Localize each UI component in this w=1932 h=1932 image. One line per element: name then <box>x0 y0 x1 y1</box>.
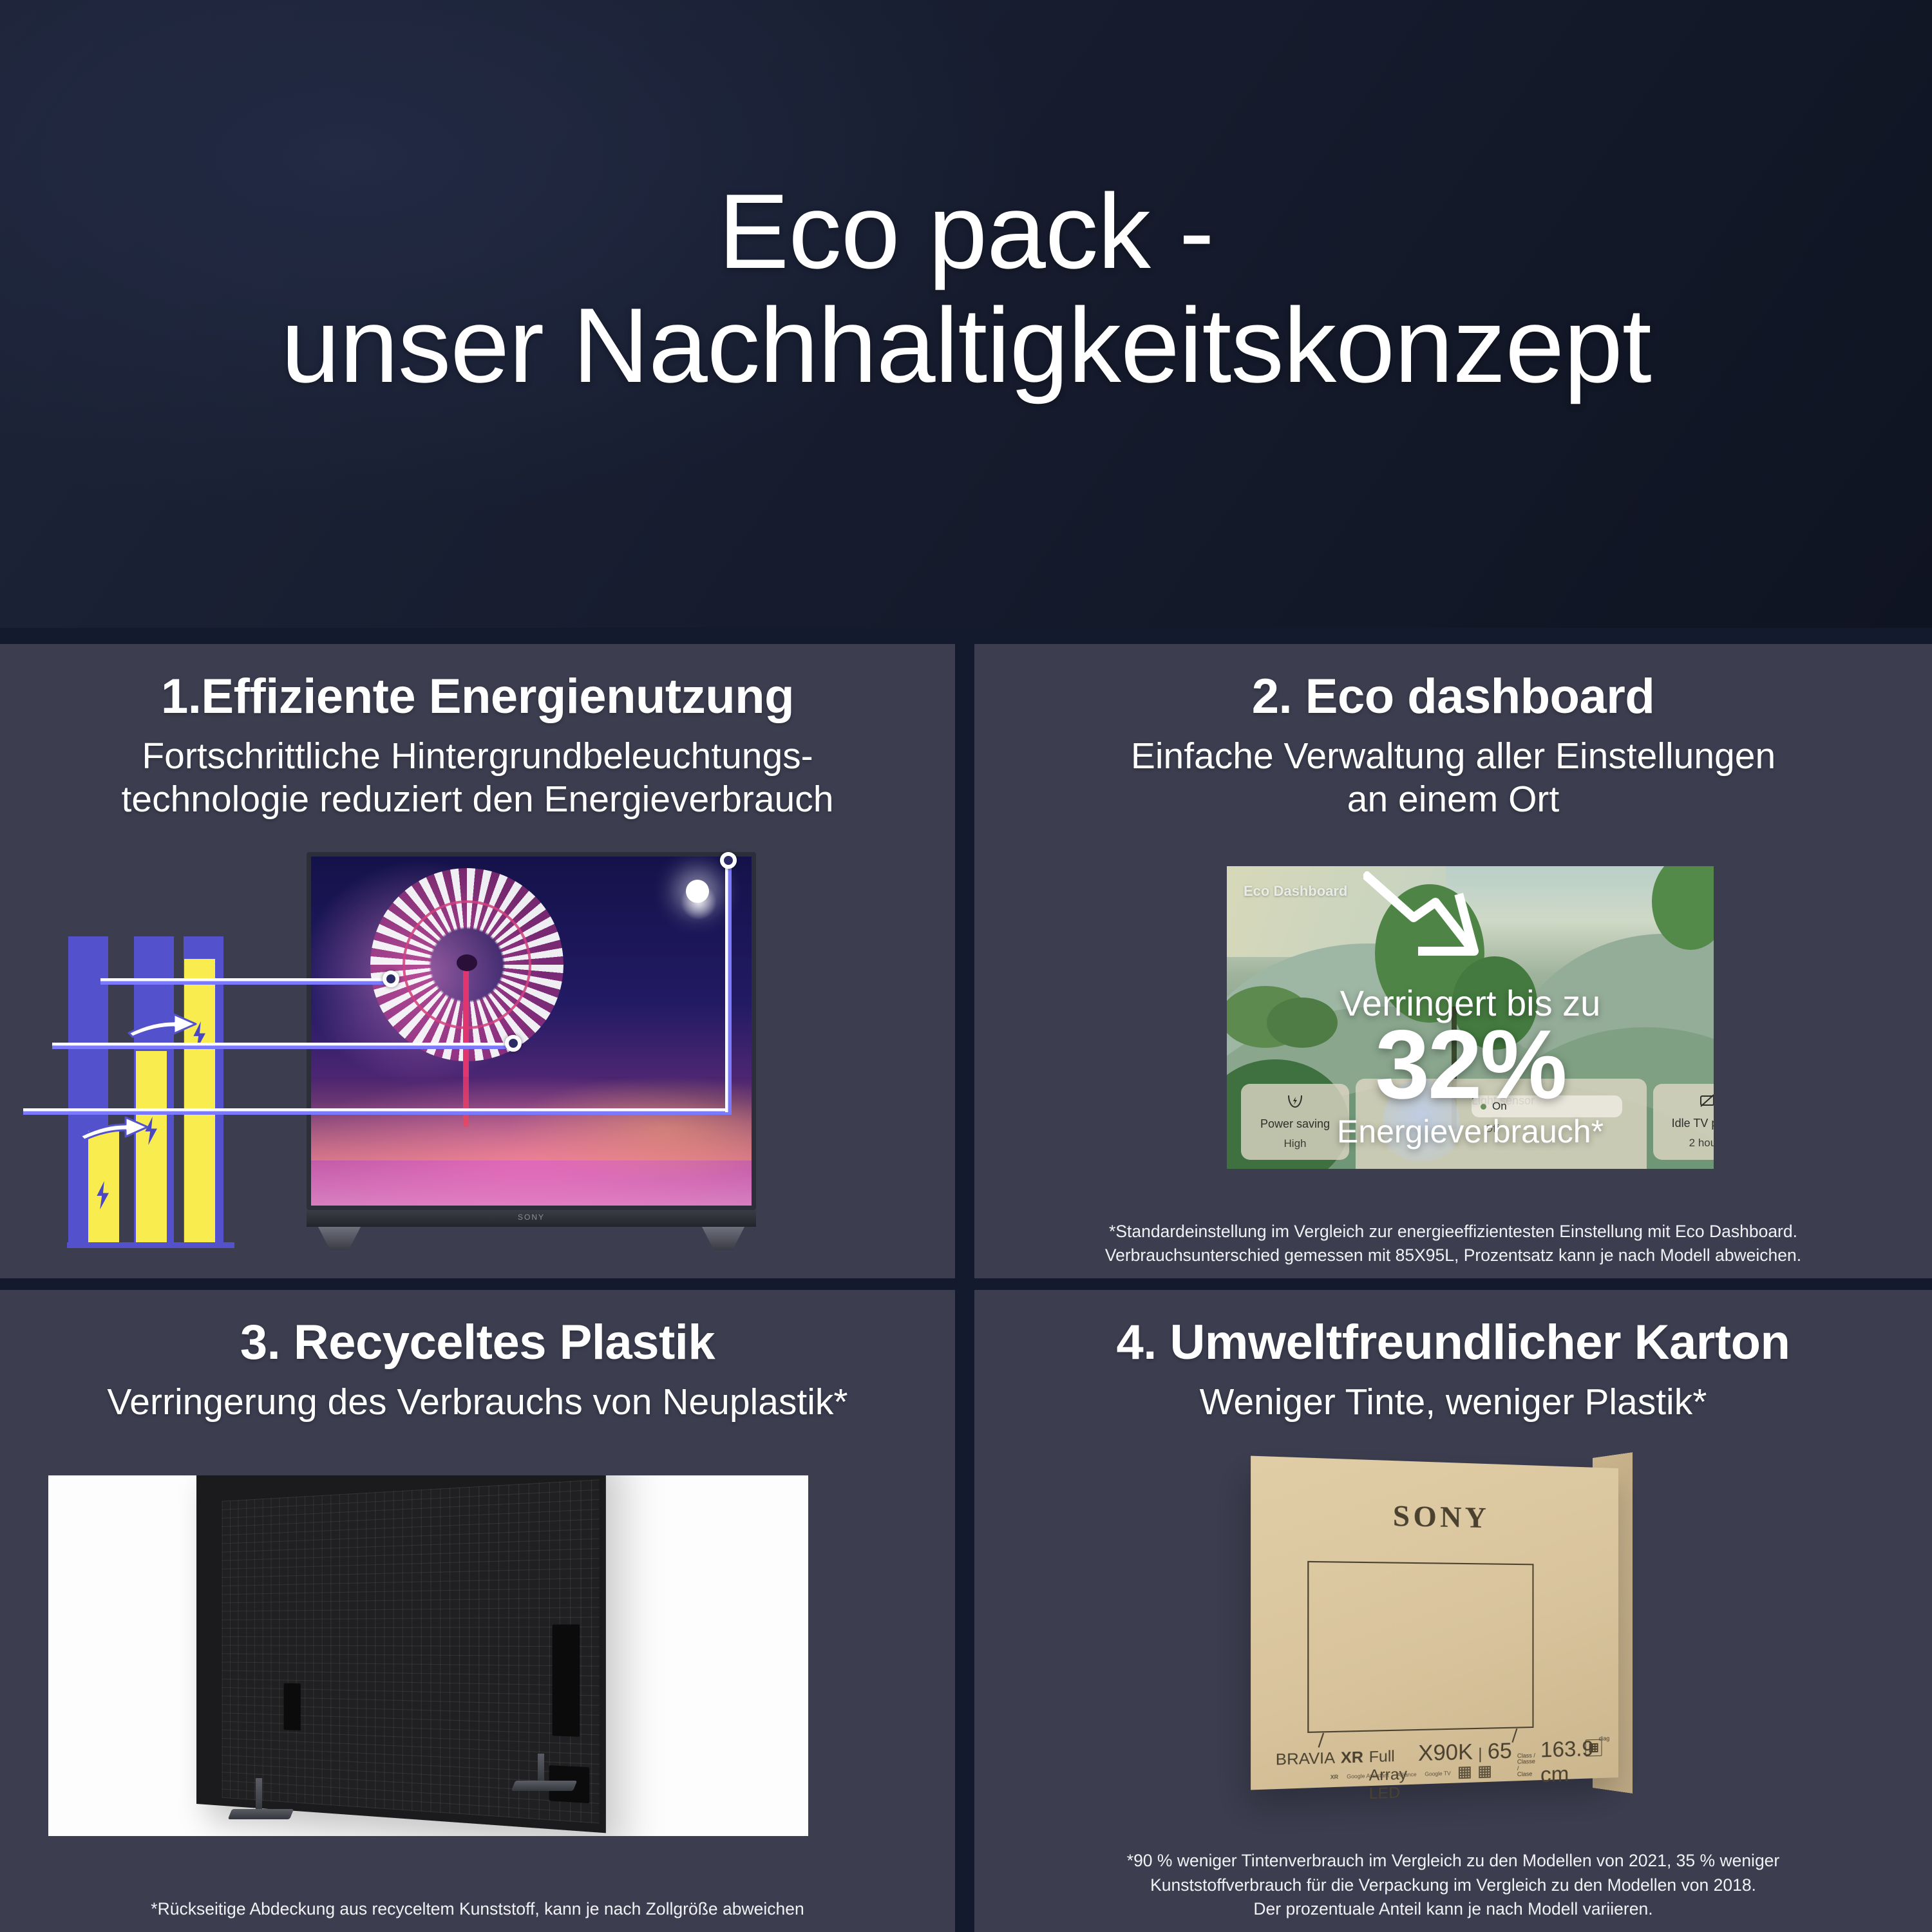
badge-google-assistant-icon: Google Assistant <box>1347 1772 1388 1780</box>
carton-eco-mark-icon <box>1586 1739 1602 1757</box>
tv-screen <box>307 852 756 1210</box>
energy-illustration: SONY <box>0 913 955 1278</box>
carton-size-class: Class / Classe / Clase <box>1517 1753 1535 1778</box>
callout-line-3 <box>23 1108 732 1115</box>
callout-line-2 <box>52 1043 513 1049</box>
carton-xr-mark: XR <box>1341 1748 1363 1767</box>
panel-3-footnote-line1: *Rückseitige Abdeckung aus recyceltem Ku… <box>45 1897 910 1922</box>
bar-yellow-1 <box>88 1131 119 1244</box>
panel-3-footnote: *Rückseitige Abdeckung aus recyceltem Ku… <box>0 1897 955 1932</box>
carton-size-class-l3: Clase <box>1517 1771 1532 1778</box>
tv-stand-left <box>318 1227 361 1250</box>
eco-dashboard-screenshot: Eco Dashboard Power saving High <box>1227 866 1714 1169</box>
badge-google-tv-icon: Google TV <box>1425 1770 1450 1777</box>
panel-4-subheading-line1: Weniger Tinte, weniger Plastik* <box>1000 1381 1906 1424</box>
bar-yellow-2 <box>136 1051 167 1244</box>
tv-rear-stand-left-foot <box>228 1809 294 1819</box>
carton-front-face: SONY BRAVIA XR Full Array LED X90K | 65 … <box>1251 1456 1618 1790</box>
carton-series: BRAVIA <box>1276 1748 1335 1768</box>
panel-1-subheading-line2: technologie reduziert den Energieverbrau… <box>26 778 929 821</box>
panel-2-subheading: Einfache Verwaltung aller Einstellungen … <box>974 724 1932 820</box>
carton-size-inch: 65 <box>1488 1738 1512 1764</box>
panel-3-subheading: Verringerung des Verbrauchs von Neuplast… <box>0 1370 955 1424</box>
carton-size-class-l2: Classe / <box>1517 1758 1535 1772</box>
page-title-line1: Eco pack - <box>281 175 1651 289</box>
eco-dashboard-label: Eco Dashboard <box>1244 883 1347 900</box>
tv-front-product-image: SONY <box>307 852 756 1251</box>
panel-recycled-plastic: 3. Recyceltes Plastik Verringerung des V… <box>0 1290 955 1932</box>
moon-icon <box>686 880 709 903</box>
bar-chart-baseline <box>67 1242 234 1248</box>
tv-brand-logo: SONY <box>518 1213 545 1222</box>
panel-3-heading: 3. Recyceltes Plastik <box>0 1290 955 1370</box>
panel-4-footnote-line2: Kunststoffverbrauch für die Verpackung i… <box>1019 1873 1887 1898</box>
page-title: Eco pack - unser Nachhaltigkeitskonzept <box>281 175 1651 421</box>
panel-efficient-energy: 1.Effiziente Energienutzung Fortschrittl… <box>0 644 955 1278</box>
feature-grid: 1.Effiziente Energienutzung Fortschrittl… <box>0 628 1932 1932</box>
panel-4-footnote: *90 % weniger Tintenverbrauch im Verglei… <box>974 1849 1932 1932</box>
panel-4-footnote-line3: Der prozentuale Anteil kann je nach Mode… <box>1019 1897 1887 1922</box>
panel-2-subheading-line1: Einfache Verwaltung aller Einstellungen <box>1000 735 1906 778</box>
qr-code-icon <box>1459 1766 1471 1779</box>
sony-logo: SONY <box>1251 1495 1618 1537</box>
growth-arrow-1 <box>79 1113 150 1141</box>
carton-product-image: SONY BRAVIA XR Full Array LED X90K | 65 … <box>1271 1454 1683 1795</box>
eco-mark-glyph <box>1589 1743 1598 1752</box>
qr-code-icon-2 <box>1479 1766 1492 1778</box>
panel-eco-dashboard: 2. Eco dashboard Einfache Verwaltung all… <box>974 644 1932 1278</box>
callout-line-1 <box>100 978 390 985</box>
ferris-wheel-hub <box>457 954 477 971</box>
growth-arrow-2 <box>128 1010 198 1038</box>
panel-2-footnote-line1: *Standardeinstellung im Vergleich zur en… <box>1019 1220 1887 1244</box>
tv-rear-stand-right <box>538 1754 544 1783</box>
energy-bar-chart <box>63 927 276 1262</box>
panel-2-footnote: *Standardeinstellung im Vergleich zur en… <box>974 1220 1932 1278</box>
carton-tv-outline <box>1307 1561 1533 1733</box>
badge-xr-icon: XR <box>1331 1774 1338 1780</box>
panel-3-subheading-line1: Verringerung des Verbrauchs von Neuplast… <box>26 1381 929 1424</box>
panel-1-subheading-line1: Fortschrittliche Hintergrundbeleuchtungs… <box>26 735 929 778</box>
bar-yellow-3 <box>184 959 215 1244</box>
page-title-line2: unser Nachhaltigkeitskonzept <box>281 289 1651 402</box>
carton-model: X90K <box>1418 1739 1473 1766</box>
hero-header: Eco pack - unser Nachhaltigkeitskonzept <box>0 0 1932 628</box>
panel-1-heading: 1.Effiziente Energienutzung <box>0 644 955 724</box>
downward-trend-arrow-icon <box>1363 871 1524 981</box>
tv-rear-stand-right-foot <box>511 1781 577 1791</box>
callout-dot-2 <box>505 1035 522 1052</box>
panel-2-subheading-line2: an einem Ort <box>1000 778 1906 821</box>
panel-4-subheading: Weniger Tinte, weniger Plastik* <box>974 1370 1932 1424</box>
reduction-overlay-subtext: Energieverbrauch* <box>1227 1113 1714 1150</box>
tv-rear-stand-left <box>256 1778 262 1812</box>
panel-4-heading: 4. Umweltfreundlicher Karton <box>974 1290 1932 1370</box>
tv-port-left <box>284 1683 301 1731</box>
reduction-overlay-percentage: 32% <box>1227 1016 1714 1113</box>
carton-divider: | <box>1478 1745 1482 1763</box>
panel-4-footnote-line1: *90 % weniger Tintenverbrauch im Verglei… <box>1019 1849 1887 1873</box>
tv-port-right <box>553 1624 580 1736</box>
panel-eco-friendly-carton: 4. Umweltfreundlicher Karton Weniger Tin… <box>974 1290 1932 1932</box>
tv-stand-right <box>702 1227 744 1250</box>
tv-rear-product-image <box>48 1475 808 1836</box>
callout-line-3-vertical <box>725 860 732 1112</box>
panel-2-footnote-line2: Verbrauchsunterschied gemessen mit 85X95… <box>1019 1244 1887 1268</box>
badge-alliance-icon: Alliance <box>1397 1771 1417 1777</box>
callout-dot-3 <box>720 852 737 869</box>
cityscape-glow <box>311 1077 752 1160</box>
panel-1-subheading: Fortschrittliche Hintergrundbeleuchtungs… <box>0 724 955 820</box>
callout-dot-1 <box>383 971 399 987</box>
panel-2-heading: 2. Eco dashboard <box>974 644 1932 724</box>
